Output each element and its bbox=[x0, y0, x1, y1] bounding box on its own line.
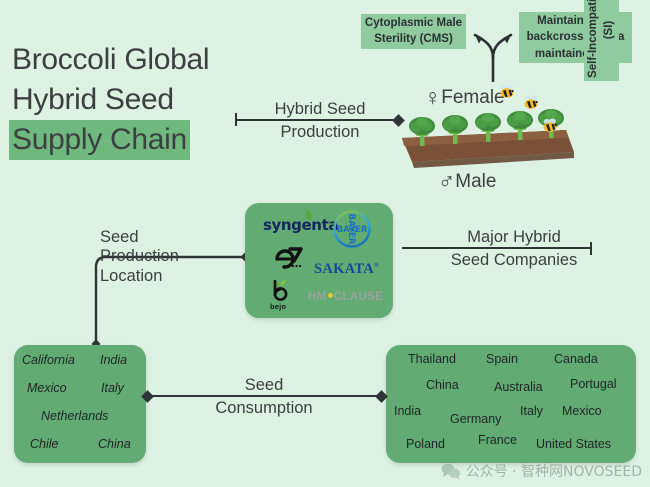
sakata-label: SAKATA bbox=[314, 261, 374, 277]
watermark: 公众号 · 智种网NOVOSEED bbox=[441, 461, 642, 481]
major-hybrid-companies-connector: Major Hybrid Seed Companies bbox=[402, 228, 626, 271]
list-item: India bbox=[394, 404, 421, 418]
seed-production-location-label-2: Production bbox=[100, 247, 220, 266]
list-item: Australia bbox=[494, 380, 543, 394]
title-line-2: Hybrid Seed bbox=[12, 80, 262, 120]
syngenta-logo: syngenta bbox=[263, 216, 338, 234]
female-symbol-icon: ♀ bbox=[424, 84, 441, 110]
sakata-logo: SAKATA® bbox=[314, 261, 379, 278]
wechat-icon bbox=[441, 463, 461, 480]
seed-production-location-label-1: Seed bbox=[100, 228, 220, 247]
list-item: Portugal bbox=[570, 377, 617, 391]
male-label: ♂Male bbox=[438, 168, 496, 195]
seed-consumption-label-2: Consumption bbox=[143, 399, 385, 418]
cms-line-2: Sterility (CMS) bbox=[364, 31, 463, 47]
title-line-1: Broccoli Global bbox=[12, 40, 262, 80]
female-text: Female bbox=[441, 87, 504, 108]
seed-companies-box: syngenta BAYER BAYER bbox=[245, 203, 393, 318]
list-item: Chile bbox=[30, 437, 59, 451]
branch-arrow-icon bbox=[462, 24, 524, 87]
self-incompatible-annotation: Self-Incompatible (SI) bbox=[584, 0, 612, 92]
watermark-text: 公众号 · 智种网NOVOSEED bbox=[466, 461, 642, 481]
list-item: Spain bbox=[486, 352, 518, 366]
page-title: Broccoli Global Hybrid Seed Supply Chain bbox=[12, 40, 262, 160]
hybrid-seed-production-label-1: Hybrid Seed bbox=[234, 100, 406, 119]
bee-icon bbox=[521, 95, 541, 116]
production-locations-box: California India Mexico Italy Netherland… bbox=[14, 345, 146, 463]
hm-clause-label-part1: HM bbox=[308, 291, 327, 303]
syngenta-label: syngenta bbox=[263, 216, 338, 234]
hm-clause-logo: HMCLAUSE bbox=[308, 291, 383, 303]
major-hybrid-companies-label-1: Major Hybrid bbox=[402, 228, 626, 247]
hybrid-seed-production-label-2: Production bbox=[234, 123, 406, 142]
consumption-countries-list: Thailand Spain Canada China Australia Po… bbox=[386, 345, 636, 463]
list-item: Mexico bbox=[562, 404, 602, 418]
hybrid-seed-production-connector: Hybrid Seed Production bbox=[234, 100, 406, 143]
production-locations-list: California India Mexico Italy Netherland… bbox=[14, 345, 146, 463]
cms-line-1: Cytoplasmic Male bbox=[364, 15, 463, 31]
seed-production-location-label: Seed Production Location bbox=[100, 228, 220, 286]
bee-icon bbox=[540, 118, 560, 139]
list-item: Poland bbox=[406, 437, 445, 451]
enza-zaden-logo bbox=[273, 245, 307, 276]
hm-clause-label-part2: CLAUSE bbox=[334, 291, 384, 303]
bejo-label: bejo bbox=[270, 302, 286, 311]
list-item: Italy bbox=[101, 381, 124, 395]
list-item: California bbox=[22, 353, 75, 367]
list-item: France bbox=[478, 433, 517, 447]
title-line-3: Supply Chain bbox=[9, 120, 190, 160]
list-item: Thailand bbox=[408, 352, 456, 366]
male-symbol-icon: ♂ bbox=[438, 168, 455, 194]
list-item: United States bbox=[536, 437, 611, 451]
female-label: ♀Female bbox=[424, 84, 505, 111]
svg-text:BAYER: BAYER bbox=[346, 214, 356, 245]
seed-consumption-connector: Seed Consumption bbox=[143, 376, 385, 419]
si-line-1: Self-Incompatible bbox=[585, 0, 601, 78]
seed-production-location-label-3: Location bbox=[100, 267, 220, 286]
dot-icon bbox=[328, 293, 333, 298]
list-item: Germany bbox=[450, 412, 501, 426]
seed-consumption-label-1: Seed bbox=[143, 376, 385, 395]
male-text: Male bbox=[455, 171, 496, 192]
consumption-countries-box: Thailand Spain Canada China Australia Po… bbox=[386, 345, 636, 463]
list-item: India bbox=[100, 353, 127, 367]
bayer-logo: BAYER BAYER bbox=[332, 209, 372, 249]
list-item: Canada bbox=[554, 352, 598, 366]
list-item: China bbox=[98, 437, 131, 451]
list-item: China bbox=[426, 378, 459, 392]
si-line-2: (SI) bbox=[601, 0, 617, 78]
list-item: Italy bbox=[520, 404, 543, 418]
bejo-logo: bejo bbox=[271, 278, 293, 307]
major-hybrid-companies-label-2: Seed Companies bbox=[402, 251, 626, 270]
list-item: Mexico bbox=[27, 381, 67, 395]
bee-icon bbox=[497, 84, 517, 105]
cms-annotation: Cytoplasmic Male Sterility (CMS) bbox=[361, 14, 466, 49]
list-item: Netherlands bbox=[41, 409, 108, 423]
infographic-canvas: Broccoli Global Hybrid Seed Supply Chain… bbox=[0, 0, 650, 487]
